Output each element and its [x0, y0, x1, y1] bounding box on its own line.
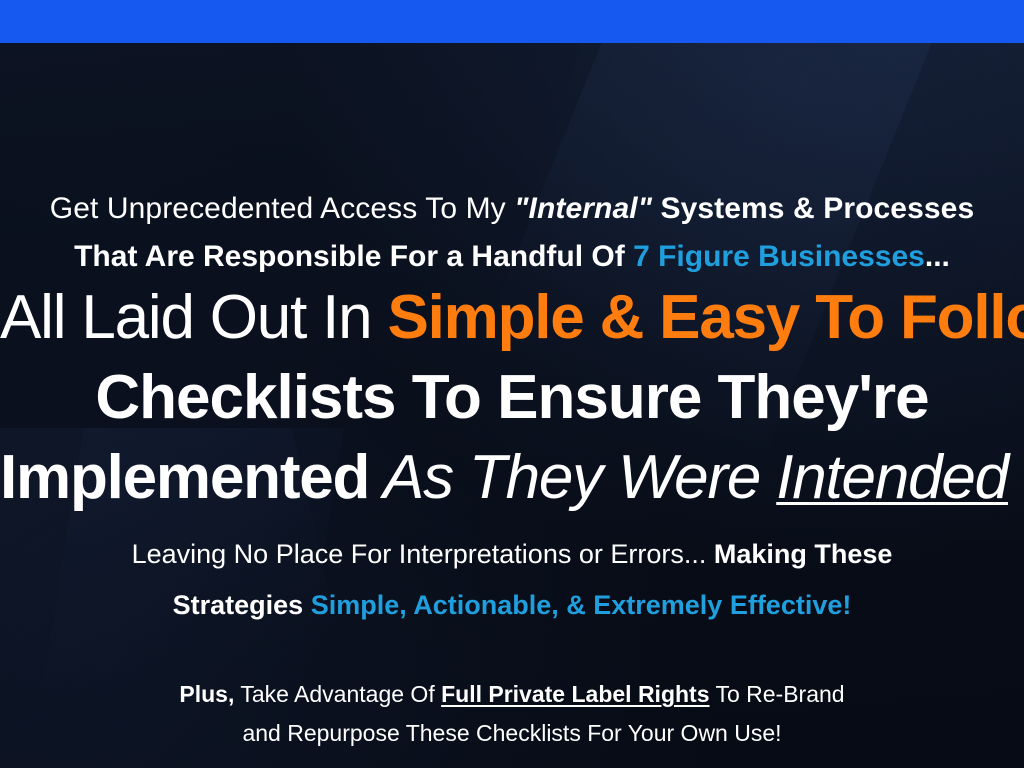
lead-1-text-before: Get Unprecedented Access To My: [50, 192, 514, 225]
lead-1-emphasis-internal: Internal: [529, 192, 638, 225]
tail-1-emphasis-making-these: Making These: [714, 539, 893, 569]
headline-big-line-2: Checklists To Ensure They're: [0, 358, 1024, 438]
plus-1-underlined-plr: Full Private Label Rights: [441, 681, 709, 707]
plus-1-emphasis-plus: Plus,: [179, 681, 234, 707]
big-3-underlined-intended: Intended: [776, 443, 1008, 512]
headline-content: Get Unprecedented Access To My "Internal…: [0, 43, 1024, 768]
tail-2-accent-simple-actionable: Simple, Actionable, & Extremely Effectiv…: [311, 590, 852, 620]
tail-2-emphasis-strategies: Strategies: [173, 590, 311, 620]
lead-1-quote-close: ": [638, 192, 652, 225]
lead-2-text-before: That Are Responsible For a Handful Of: [74, 240, 633, 273]
lead-1-quote-open: ": [514, 192, 528, 225]
tail-1-text-before: Leaving No Place For Interpretations or …: [132, 539, 714, 569]
headline-big-line-3: Implemented As They Were Intended To: [0, 438, 1024, 518]
lead-1-text-after: Systems & Processes: [652, 192, 974, 225]
lead-2-accent-7-figure-businesses: 7 Figure Businesses: [633, 240, 925, 273]
top-brand-bar: [0, 0, 1024, 43]
headline-lead-line-1: Get Unprecedented Access To My "Internal…: [0, 185, 1024, 233]
sales-page: Get Unprecedented Access To My "Internal…: [0, 0, 1024, 768]
plus-block-line-2: and Repurpose These Checklists For Your …: [0, 713, 1024, 753]
big-3-emphasis-implemented: Implemented: [0, 443, 369, 512]
plus-1-text-after: To Re-Brand: [710, 681, 845, 707]
headline-tail-line-2: Strategies Simple, Actionable, & Extreme…: [0, 581, 1024, 629]
lead-2-ellipsis: ...: [925, 240, 950, 273]
plus-block-line-1: Plus, Take Advantage Of Full Private Lab…: [0, 674, 1024, 714]
big-1-accent-simple-easy: Simple & Easy To Follow: [387, 283, 1024, 352]
headline-tail-line-1: Leaving No Place For Interpretations or …: [0, 530, 1024, 578]
headline-lead-line-2: That Are Responsible For a Handful Of 7 …: [0, 233, 1024, 281]
big-1-text-before: All Laid Out In: [0, 283, 387, 352]
big-3-text-middle: As They Were: [369, 443, 776, 512]
headline-big-line-1: All Laid Out In Simple & Easy To Follow: [0, 278, 1024, 358]
plus-1-text-before: Take Advantage Of: [234, 681, 441, 707]
big-3-text-after: To: [1008, 443, 1024, 512]
